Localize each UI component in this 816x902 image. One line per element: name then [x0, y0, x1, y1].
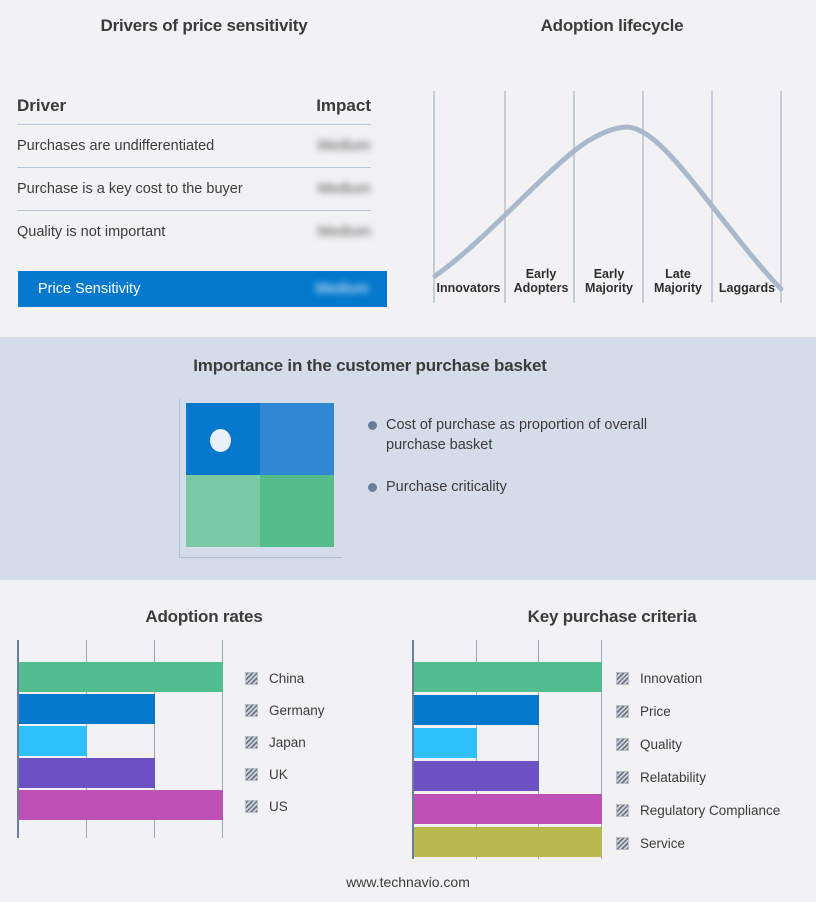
lifecycle-chart: Innovators Early Adopters Early Majority…	[422, 75, 802, 315]
bar-innovation	[414, 662, 602, 692]
lifecycle-panel: Adoption lifecycle Innovators Early Adop…	[408, 0, 816, 337]
legend-swatch-icon	[616, 804, 629, 817]
legend-swatch-icon	[245, 672, 258, 685]
lifecycle-label-late-majority: Late Majority	[644, 267, 712, 295]
legend-label: Quality	[640, 737, 682, 752]
legend-label: Cost of purchase as proportion of overal…	[386, 415, 698, 455]
legend-swatch-icon	[245, 800, 258, 813]
legend-item: Regulatory Compliance	[616, 794, 780, 827]
legend-label: Japan	[269, 735, 306, 750]
footer-url: www.technavio.com	[0, 874, 816, 890]
legend-item: Price	[616, 695, 780, 728]
legend-swatch-icon	[616, 705, 629, 718]
legend-swatch-icon	[616, 672, 629, 685]
quadrant-y-axis	[179, 399, 180, 557]
quadrant-cell-top-right	[260, 403, 334, 475]
key-criteria-plot-area	[412, 640, 602, 859]
lifecycle-bell-curve	[435, 127, 781, 289]
impact-value: Medium	[318, 138, 371, 154]
legend-swatch-icon	[616, 771, 629, 784]
legend-label: UK	[269, 767, 288, 782]
quadrant-cell-bottom-right	[260, 475, 334, 547]
key-criteria-panel: Key purchase criteria InnovationPriceQua…	[408, 580, 816, 902]
bar-regulatory-compliance	[414, 794, 602, 824]
drivers-table: Driver Impact Purchases are undifferenti…	[17, 88, 371, 253]
legend-item: UK	[245, 758, 325, 790]
key-criteria-chart: InnovationPriceQualityRelatabilityRegula…	[412, 640, 812, 865]
bar-china	[19, 662, 223, 692]
adoption-rates-panel: Adoption rates ChinaGermanyJapanUKUS	[0, 580, 408, 902]
lifecycle-label-early-majority: Early Majority	[575, 267, 643, 295]
legend-item: Relatability	[616, 761, 780, 794]
legend-label: Regulatory Compliance	[640, 803, 780, 818]
legend-item: Innovation	[616, 662, 780, 695]
quadrant-x-axis	[179, 557, 342, 558]
legend-item: US	[245, 790, 325, 822]
legend-label: Service	[640, 836, 685, 851]
key-criteria-title: Key purchase criteria	[408, 607, 816, 627]
bullet-icon	[368, 483, 377, 492]
legend-swatch-icon	[616, 738, 629, 751]
importance-legend: Cost of purchase as proportion of overal…	[368, 415, 698, 519]
adoption-plot-area	[17, 640, 223, 838]
price-sensitivity-label: Price Sensitivity	[38, 281, 140, 297]
quadrant-cell-top-left	[186, 403, 260, 475]
legend-swatch-icon	[245, 736, 258, 749]
adoption-rates-title: Adoption rates	[0, 607, 408, 627]
bar-germany	[19, 694, 155, 724]
driver-label: Purchases are undifferentiated	[17, 138, 214, 154]
column-header-impact: Impact	[316, 96, 371, 116]
lifecycle-label-laggards: Laggards	[713, 281, 781, 295]
legend-label: Germany	[269, 703, 325, 718]
legend-label: Relatability	[640, 770, 706, 785]
legend-item: Japan	[245, 726, 325, 758]
lifecycle-label-innovators: Innovators	[416, 281, 521, 295]
table-header-row: Driver Impact	[17, 88, 371, 125]
importance-title: Importance in the customer purchase bask…	[0, 356, 740, 376]
impact-value: Medium	[318, 224, 371, 240]
lifecycle-title: Adoption lifecycle	[408, 16, 816, 36]
bar-service	[414, 827, 602, 857]
purchase-basket-quadrant-chart	[186, 403, 334, 547]
table-row: Purchase is a key cost to the buyer Medi…	[17, 168, 371, 211]
bar-japan	[19, 726, 87, 756]
quadrant-cell-bottom-left	[186, 475, 260, 547]
legend-label: China	[269, 671, 304, 686]
bar-relatability	[414, 761, 539, 791]
drivers-panel: Drivers of price sensitivity Driver Impa…	[0, 0, 408, 337]
drivers-title: Drivers of price sensitivity	[0, 16, 408, 36]
legend-swatch-icon	[245, 768, 258, 781]
importance-panel: Importance in the customer purchase bask…	[0, 337, 816, 580]
driver-label: Purchase is a key cost to the buyer	[17, 181, 243, 197]
legend-label: US	[269, 799, 288, 814]
lifecycle-label-early-adopters: Early Adopters	[507, 267, 575, 295]
column-header-driver: Driver	[17, 96, 66, 116]
key-criteria-legend: InnovationPriceQualityRelatabilityRegula…	[616, 662, 780, 860]
legend-swatch-icon	[245, 704, 258, 717]
legend-item: Quality	[616, 728, 780, 761]
legend-label: Price	[640, 704, 671, 719]
price-sensitivity-impact: Medium	[316, 281, 369, 297]
bullet-icon	[368, 421, 377, 430]
legend-swatch-icon	[616, 837, 629, 850]
legend-item: Service	[616, 827, 780, 860]
table-row: Purchases are undifferentiated Medium	[17, 125, 371, 168]
legend-item: Cost of purchase as proportion of overal…	[368, 415, 698, 455]
impact-value: Medium	[318, 181, 371, 197]
legend-label: Innovation	[640, 671, 702, 686]
legend-label: Purchase criticality	[386, 477, 507, 497]
quadrant-position-marker	[210, 429, 231, 452]
bar-us	[19, 790, 223, 820]
legend-item: Germany	[245, 694, 325, 726]
price-sensitivity-highlight-row: Price Sensitivity Medium	[18, 271, 387, 307]
table-row: Quality is not important Medium	[17, 211, 371, 253]
adoption-rates-chart: ChinaGermanyJapanUKUS	[17, 640, 397, 845]
legend-item: China	[245, 662, 325, 694]
adoption-rates-legend: ChinaGermanyJapanUKUS	[245, 662, 325, 822]
bar-quality	[414, 728, 477, 758]
bar-uk	[19, 758, 155, 788]
legend-item: Purchase criticality	[368, 477, 698, 497]
bar-price	[414, 695, 539, 725]
driver-label: Quality is not important	[17, 224, 165, 240]
